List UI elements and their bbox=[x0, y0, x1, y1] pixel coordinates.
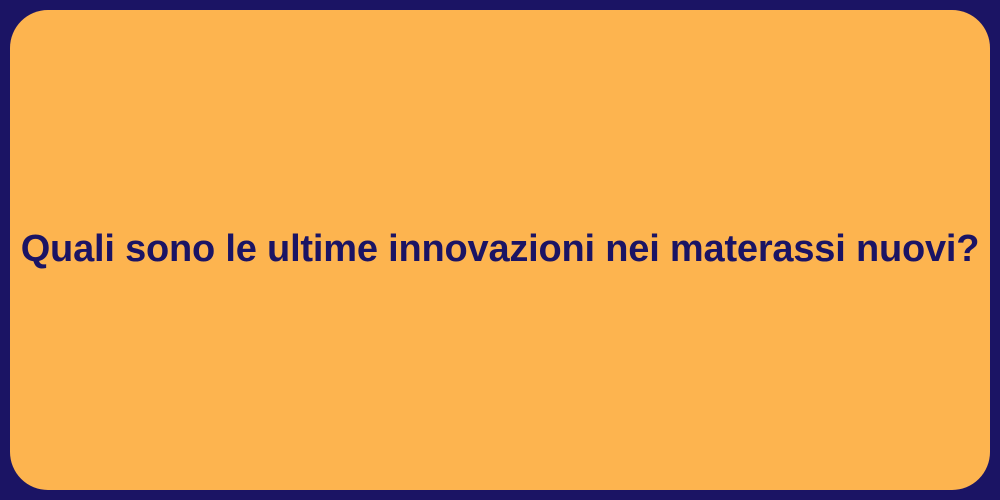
page-frame: Quali sono le ultime innovazioni nei mat… bbox=[0, 0, 1000, 500]
page-title: Quali sono le ultime innovazioni nei mat… bbox=[0, 226, 1000, 274]
content-card: Quali sono le ultime innovazioni nei mat… bbox=[10, 10, 990, 490]
